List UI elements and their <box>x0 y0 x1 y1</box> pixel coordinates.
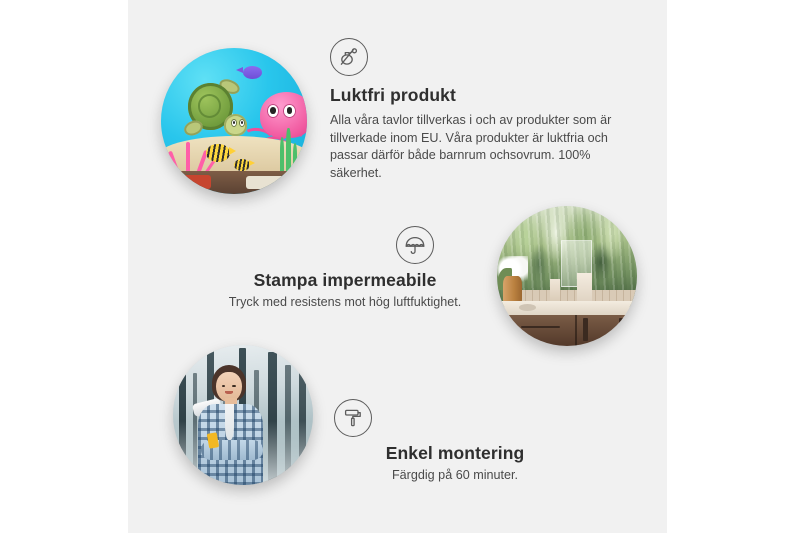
forest-disc-image <box>173 345 313 485</box>
no-fragrance-icon <box>330 38 368 76</box>
sea-disc-image <box>161 48 307 194</box>
feature-title: Enkel montering <box>330 443 580 464</box>
octopus-eye <box>283 104 296 118</box>
purple-fish-icon <box>243 66 262 79</box>
paint-roller-icon <box>334 399 372 437</box>
feature-body: Färgdig på 60 minuter. <box>330 467 580 485</box>
bathroom-scene <box>497 206 637 346</box>
feature-odour-free: Luktfri produkt Alla våra tavlor tillver… <box>330 38 626 182</box>
vanity-cabinet <box>508 315 637 346</box>
octopus-eye <box>267 104 280 118</box>
coral-icon <box>167 130 211 174</box>
feature-body: Tryck med resistens mot hög luftfuktighe… <box>214 294 476 312</box>
feature-easy-mounting: Enkel montering Färgdig på 60 minuter. <box>330 399 580 485</box>
sea-floor <box>161 171 307 194</box>
promo-banner: Luktfri produkt Alla våra tavlor tillver… <box>0 0 800 533</box>
turtle-eye <box>231 119 237 127</box>
bathroom-disc-image <box>497 206 637 346</box>
feature-waterproof: Stampa impermeabile Tryck med resistens … <box>214 226 476 312</box>
seaweed-icon <box>278 128 298 172</box>
feature-body: Alla våra tavlor tillverkas i och av pro… <box>330 112 626 182</box>
feature-title: Stampa impermeabile <box>214 270 476 291</box>
yellow-fish-icon <box>206 144 229 162</box>
underwater-scene <box>161 48 307 194</box>
umbrella-icon <box>396 226 434 264</box>
yellow-fish-icon <box>234 159 250 171</box>
forest-scene <box>173 345 313 485</box>
feature-title: Luktfri produkt <box>330 85 626 106</box>
